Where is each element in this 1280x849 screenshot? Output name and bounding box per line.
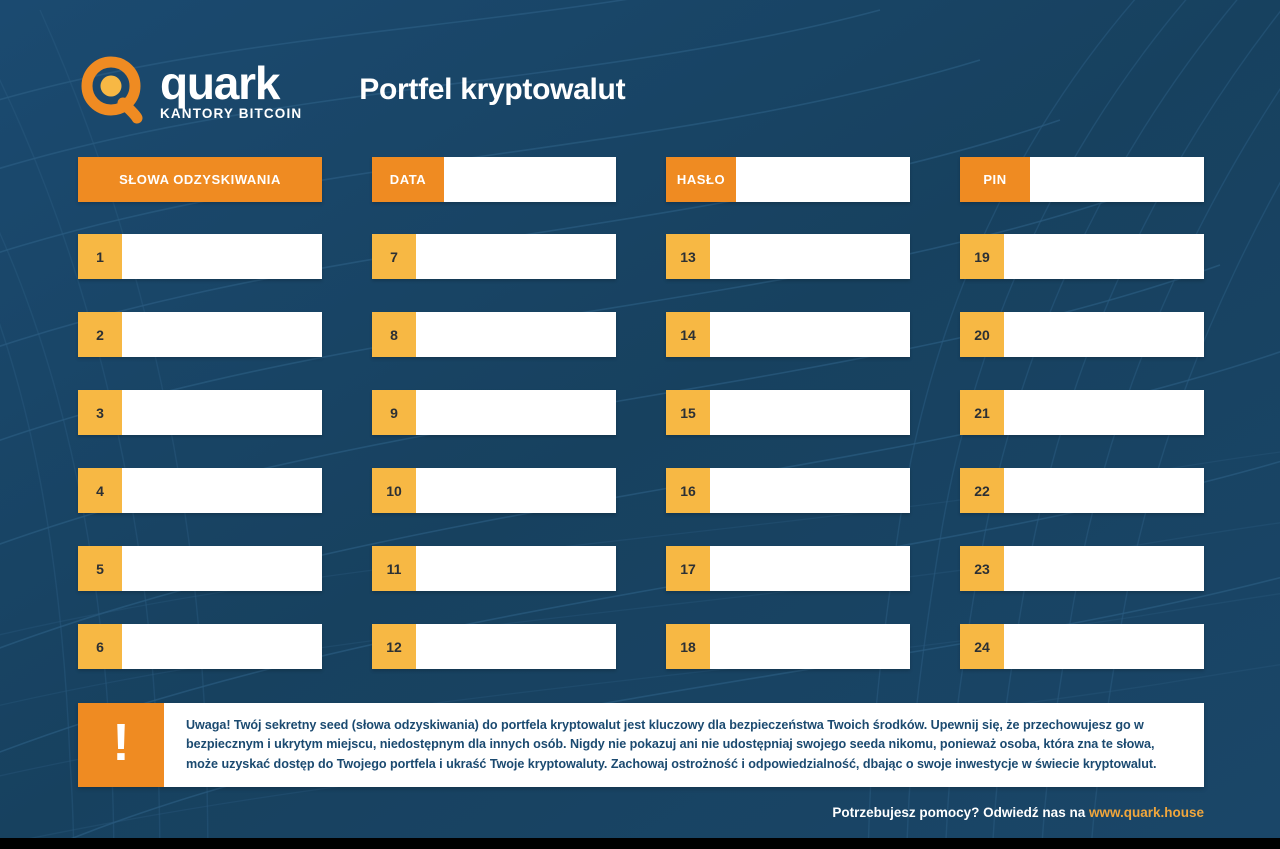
seed-word-row[interactable]: 23: [960, 546, 1204, 591]
seed-word-row[interactable]: 5: [78, 546, 322, 591]
brand-logo[interactable]: quark KANTORY BITCOIN: [78, 54, 303, 126]
seed-word-input[interactable]: [1004, 312, 1204, 357]
help-prompt: Potrzebujesz pomocy? Odwiedź nas na: [832, 805, 1085, 820]
seed-word-input[interactable]: [1004, 546, 1204, 591]
seed-word-input[interactable]: [416, 468, 616, 513]
seed-word-number: 12: [372, 624, 416, 669]
field-header-pin[interactable]: PIN: [960, 157, 1204, 202]
seed-word-number: 19: [960, 234, 1004, 279]
seed-word-number: 8: [372, 312, 416, 357]
seed-word-row[interactable]: 7: [372, 234, 616, 279]
seed-word-input[interactable]: [1004, 390, 1204, 435]
seed-grid: SŁOWA ODZYSKIWANIA DATA HASŁO PIN 1 7: [78, 157, 1204, 702]
seed-word-row[interactable]: 10: [372, 468, 616, 513]
quark-q-logo-icon: [78, 54, 150, 126]
seed-word-input[interactable]: [710, 468, 910, 513]
seed-word-input[interactable]: [122, 624, 322, 669]
field-header-label: SŁOWA ODZYSKIWANIA: [78, 157, 322, 202]
seed-word-row[interactable]: 13: [666, 234, 910, 279]
pin-input[interactable]: [1030, 157, 1204, 202]
seed-word-input[interactable]: [122, 468, 322, 513]
field-header-seed-words[interactable]: SŁOWA ODZYSKIWANIA: [78, 157, 322, 202]
seed-word-input[interactable]: [122, 234, 322, 279]
seed-word-number: 10: [372, 468, 416, 513]
seed-word-row[interactable]: 20: [960, 312, 1204, 357]
seed-word-row[interactable]: 6: [78, 624, 322, 669]
seed-word-row[interactable]: 12: [372, 624, 616, 669]
exclamation-mark-icon: !: [78, 703, 164, 787]
date-input[interactable]: [444, 157, 616, 202]
seed-word-number: 14: [666, 312, 710, 357]
seed-word-input[interactable]: [710, 546, 910, 591]
seed-word-input[interactable]: [710, 624, 910, 669]
seed-word-number: 9: [372, 390, 416, 435]
seed-word-row[interactable]: 16: [666, 468, 910, 513]
seed-word-row[interactable]: 3: [78, 390, 322, 435]
seed-word-row[interactable]: 18: [666, 624, 910, 669]
seed-word-number: 6: [78, 624, 122, 669]
seed-word-number: 17: [666, 546, 710, 591]
seed-word-row[interactable]: 1: [78, 234, 322, 279]
seed-word-input[interactable]: [416, 546, 616, 591]
seed-word-number: 4: [78, 468, 122, 513]
seed-word-input[interactable]: [710, 234, 910, 279]
seed-word-row[interactable]: 19: [960, 234, 1204, 279]
help-url-link[interactable]: www.quark.house: [1089, 805, 1204, 820]
seed-word-number: 24: [960, 624, 1004, 669]
seed-word-number: 3: [78, 390, 122, 435]
seed-word-row[interactable]: 17: [666, 546, 910, 591]
seed-word-row[interactable]: 21: [960, 390, 1204, 435]
seed-word-number: 1: [78, 234, 122, 279]
seed-word-row[interactable]: 8: [372, 312, 616, 357]
seed-word-input[interactable]: [710, 312, 910, 357]
security-warning-text: Uwaga! Twój sekretny seed (słowa odzyski…: [164, 703, 1204, 787]
seed-word-row[interactable]: 22: [960, 468, 1204, 513]
seed-word-number: 20: [960, 312, 1004, 357]
seed-word-row[interactable]: 11: [372, 546, 616, 591]
field-header-label: HASŁO: [666, 157, 736, 202]
field-header-label: PIN: [960, 157, 1030, 202]
seed-word-input[interactable]: [416, 234, 616, 279]
seed-word-input[interactable]: [710, 390, 910, 435]
field-header-date[interactable]: DATA: [372, 157, 616, 202]
brand-tagline: KANTORY BITCOIN: [160, 104, 303, 121]
seed-word-number: 21: [960, 390, 1004, 435]
seed-word-number: 13: [666, 234, 710, 279]
seed-word-input[interactable]: [416, 390, 616, 435]
seed-word-input[interactable]: [122, 390, 322, 435]
seed-word-row[interactable]: 24: [960, 624, 1204, 669]
page-title: Portfel kryptowalut: [359, 73, 625, 107]
brand-name: quark: [160, 62, 279, 104]
field-header-password[interactable]: HASŁO: [666, 157, 910, 202]
seed-word-row[interactable]: 2: [78, 312, 322, 357]
seed-word-number: 11: [372, 546, 416, 591]
seed-word-row[interactable]: 15: [666, 390, 910, 435]
bottom-black-strip: [0, 838, 1280, 849]
seed-word-number: 16: [666, 468, 710, 513]
password-input[interactable]: [736, 157, 910, 202]
seed-word-number: 2: [78, 312, 122, 357]
seed-word-row[interactable]: 14: [666, 312, 910, 357]
seed-word-input[interactable]: [122, 546, 322, 591]
seed-word-input[interactable]: [122, 312, 322, 357]
seed-word-input[interactable]: [1004, 468, 1204, 513]
page-header: quark KANTORY BITCOIN Portfel kryptowalu…: [78, 50, 625, 130]
seed-word-row[interactable]: 9: [372, 390, 616, 435]
seed-word-number: 5: [78, 546, 122, 591]
crypto-wallet-seed-sheet: quark KANTORY BITCOIN Portfel kryptowalu…: [0, 0, 1280, 849]
seed-word-input[interactable]: [416, 312, 616, 357]
seed-word-row[interactable]: 4: [78, 468, 322, 513]
seed-word-number: 23: [960, 546, 1004, 591]
page-canvas: quark KANTORY BITCOIN Portfel kryptowalu…: [0, 0, 1280, 838]
seed-word-number: 15: [666, 390, 710, 435]
field-header-label: DATA: [372, 157, 444, 202]
security-warning-box: ! Uwaga! Twój sekretny seed (słowa odzys…: [78, 703, 1204, 787]
brand-wordmark: quark KANTORY BITCOIN: [160, 60, 303, 121]
seed-word-number: 7: [372, 234, 416, 279]
help-footer: Potrzebujesz pomocy? Odwiedź nas na www.…: [832, 805, 1204, 820]
seed-word-number: 18: [666, 624, 710, 669]
seed-word-input[interactable]: [1004, 234, 1204, 279]
seed-word-input[interactable]: [416, 624, 616, 669]
seed-word-input[interactable]: [1004, 624, 1204, 669]
seed-word-number: 22: [960, 468, 1004, 513]
